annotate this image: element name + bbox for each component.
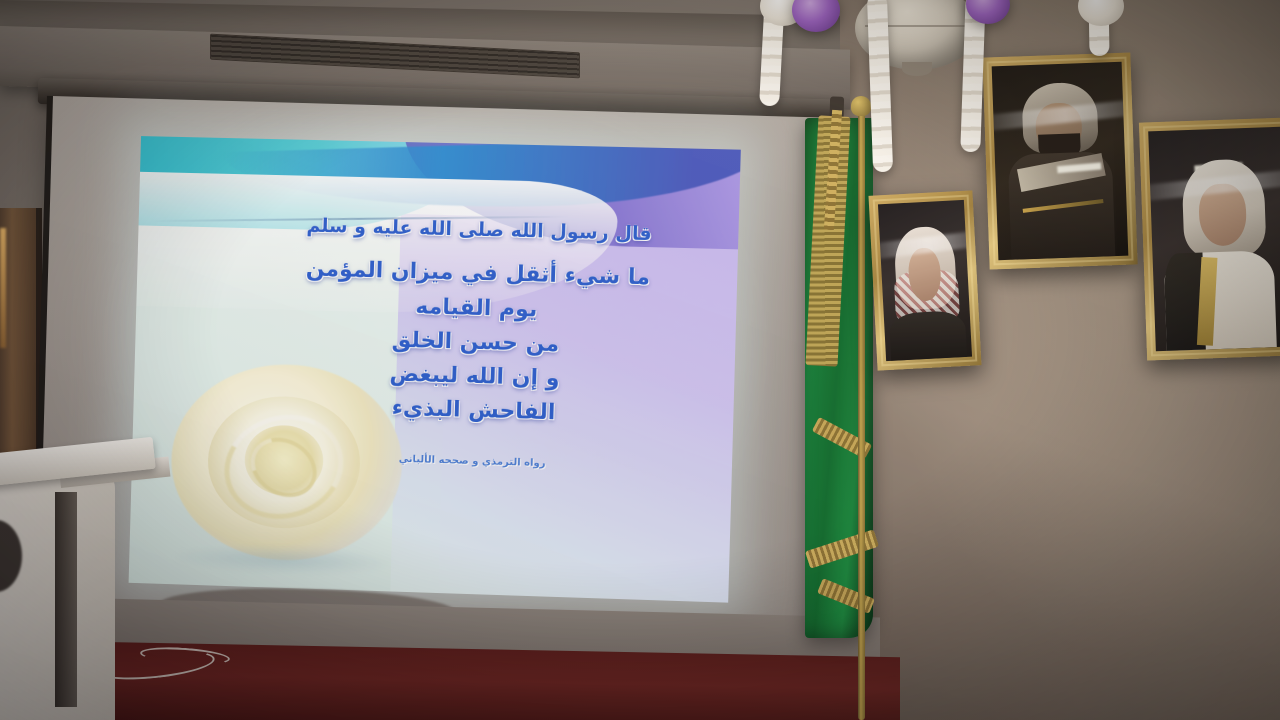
room-scene: قال رسول الله صلى الله عليه و سلم ما شيء… [0, 0, 1280, 720]
portrait-left-shoulders [889, 310, 967, 361]
rose-shadow [173, 543, 394, 578]
flag-finial-icon [851, 96, 871, 116]
air-vent-icon [210, 34, 580, 79]
portrait-right [1139, 117, 1280, 360]
portrait-center-glass [992, 62, 1129, 260]
portrait-left [868, 190, 981, 370]
slide-text-block: قال رسول الله صلى الله عليه و سلم ما شيء… [239, 210, 715, 476]
portrait-left-glass [878, 200, 972, 361]
flag-pole [858, 108, 865, 720]
lectern-side-panel [55, 492, 77, 707]
portrait-center [982, 52, 1137, 269]
portrait-right-glass [1148, 127, 1280, 351]
projected-slide: قال رسول الله صلى الله عليه و سلم ما شيء… [129, 136, 741, 603]
door-light-gap [0, 228, 6, 348]
